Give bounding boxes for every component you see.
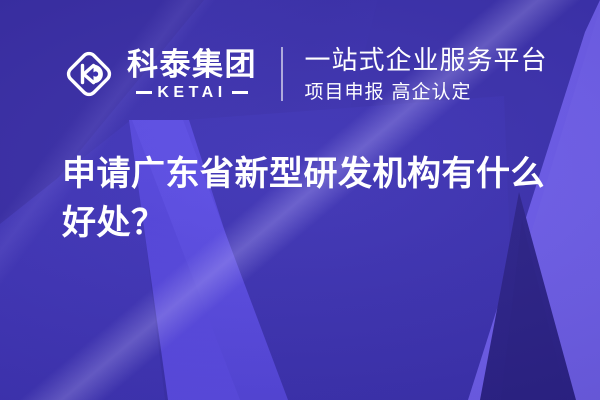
- dash-right-icon: [232, 91, 248, 94]
- brand-wordmark: 科泰集团 KETAI: [127, 48, 257, 101]
- banner-header: 科泰集团 KETAI 一站式企业服务平台 项目申报 高企认定: [62, 38, 548, 110]
- promo-banner: 科泰集团 KETAI 一站式企业服务平台 项目申报 高企认定 申请广东省新型研发…: [0, 0, 600, 400]
- page-title: 申请广东省新型研发机构有什么好处？: [62, 150, 554, 248]
- brand-logo: 科泰集团 KETAI: [62, 47, 257, 101]
- tagline-primary: 一站式企业服务平台: [305, 46, 548, 76]
- tagline-secondary: 项目申报 高企认定: [305, 81, 548, 103]
- brand-name-cn: 科泰集团: [127, 48, 257, 82]
- ketai-diamond-k-icon: [62, 47, 116, 101]
- vertical-divider-icon: [281, 47, 283, 101]
- brand-name-en-row: KETAI: [127, 84, 257, 101]
- tagline-block: 一站式企业服务平台 项目申报 高企认定: [305, 46, 548, 103]
- brand-name-en: KETAI: [157, 84, 226, 101]
- dash-left-icon: [136, 91, 152, 94]
